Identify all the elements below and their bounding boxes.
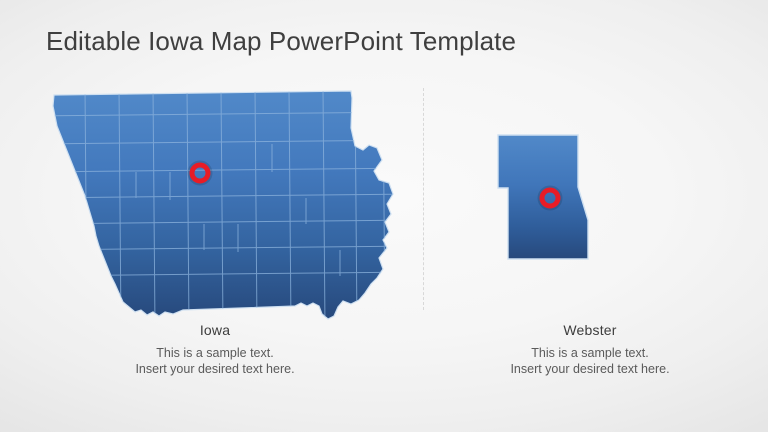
panel-divider xyxy=(423,88,424,310)
webster-caption-line1: This is a sample text. xyxy=(440,345,740,361)
iowa-caption-title: Iowa xyxy=(20,322,410,338)
iowa-caption: Iowa This is a sample text. Insert your … xyxy=(20,322,410,377)
iowa-panel[interactable]: Iowa This is a sample text. Insert your … xyxy=(20,80,410,380)
webster-caption-body: This is a sample text. Insert your desir… xyxy=(440,345,740,377)
page-title: Editable Iowa Map PowerPoint Template xyxy=(46,26,516,57)
iowa-caption-line2: Insert your desired text here. xyxy=(20,361,410,377)
webster-panel[interactable]: Webster This is a sample text. Insert yo… xyxy=(440,80,740,380)
iowa-caption-body: This is a sample text. Insert your desir… xyxy=(20,345,410,377)
webster-caption: Webster This is a sample text. Insert yo… xyxy=(440,322,740,377)
slide-canvas: Editable Iowa Map PowerPoint Template xyxy=(0,0,768,432)
webster-caption-title: Webster xyxy=(440,322,740,338)
webster-county-map[interactable] xyxy=(492,132,612,267)
iowa-state-map[interactable] xyxy=(33,88,413,328)
iowa-caption-line1: This is a sample text. xyxy=(20,345,410,361)
webster-caption-line2: Insert your desired text here. xyxy=(440,361,740,377)
